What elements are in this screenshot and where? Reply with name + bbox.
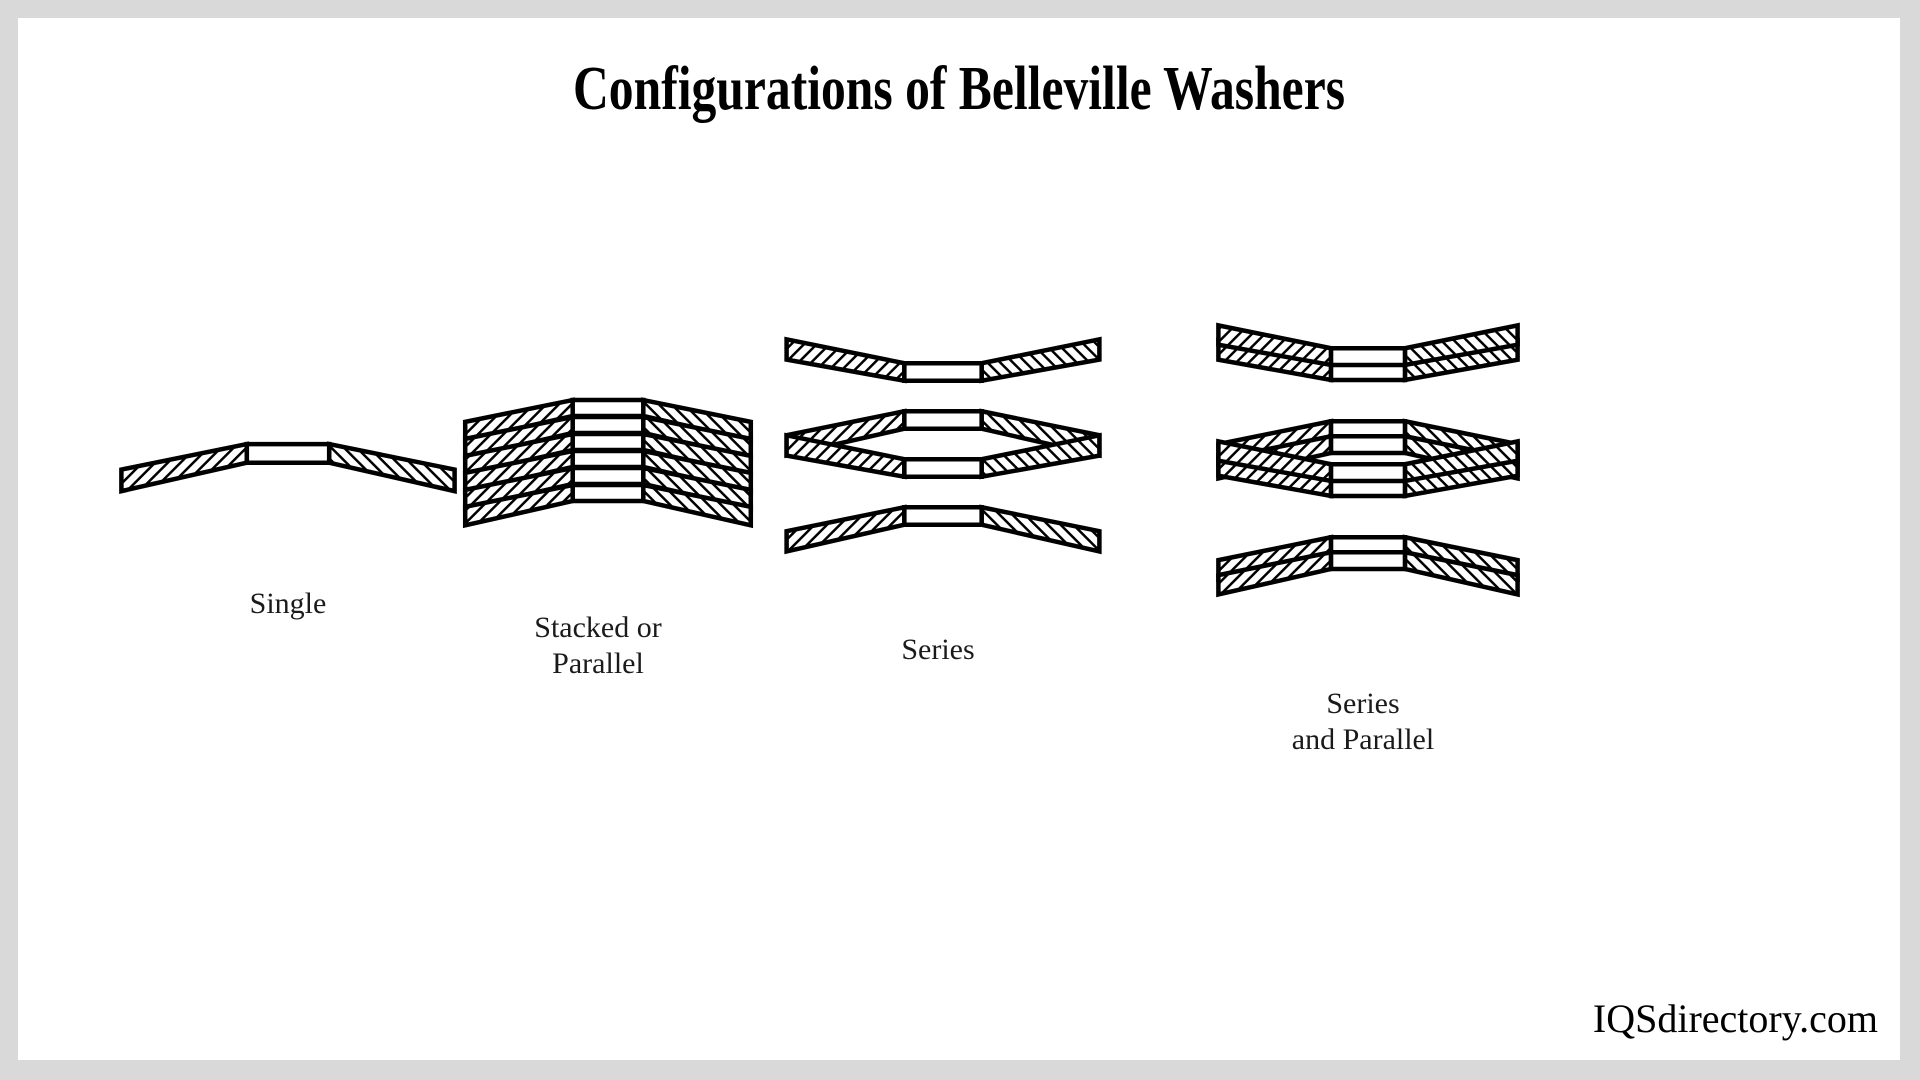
figure-series-and-parallel [1208,338,1528,578]
page-title: Configurations of Belleville Washers [206,54,1712,125]
figure-label-single: Single [128,586,448,622]
watermark: IQSdirectory.com [1593,995,1878,1042]
figure-series [783,338,1103,538]
diagram-panel: Configurations of Belleville Washers Sin… [18,18,1900,1060]
figure-label-stacked-or-parallel: Stacked or Parallel [438,610,758,682]
figure-stacked-or-parallel [448,348,768,548]
figure-label-series: Series [778,632,1098,668]
figure-label-series-and-parallel: Series and Parallel [1203,686,1523,758]
diagram-page: Configurations of Belleville Washers Sin… [0,0,1920,1080]
figure-single [128,348,448,518]
